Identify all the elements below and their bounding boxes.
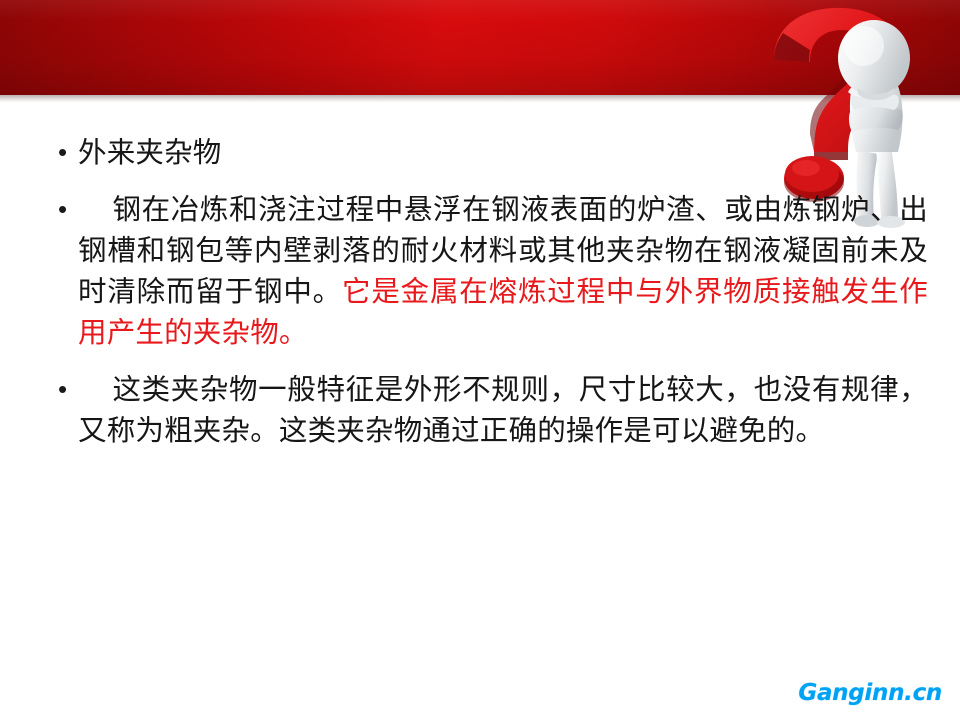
bullet-marker: • [48, 189, 78, 230]
bullet-run-3-1: 这类夹杂物一般特征是外形不规则，尺寸比较大，也没有规律，又称为粗夹杂。这类夹杂物… [78, 373, 928, 447]
bullet-marker: • [48, 369, 78, 410]
bullet-text-2: 钢在冶炼和浇注过程中悬浮在钢液表面的炉渣、或由炼钢炉、出钢槽和钢包等内壁剥落的耐… [78, 189, 928, 353]
site-watermark: Ganginn.cn [798, 680, 942, 706]
bullet-text-3: 这类夹杂物一般特征是外形不规则，尺寸比较大，也没有规律，又称为粗夹杂。这类夹杂物… [78, 369, 928, 451]
slide-body: • 外来夹杂物 • 钢在冶炼和浇注过程中悬浮在钢液表面的炉渣、或由炼钢炉、出钢槽… [48, 132, 928, 455]
bullet-item-1: • 外来夹杂物 [48, 132, 928, 173]
slide: • 外来夹杂物 • 钢在冶炼和浇注过程中悬浮在钢液表面的炉渣、或由炼钢炉、出钢槽… [0, 0, 960, 720]
bullet-item-3: • 这类夹杂物一般特征是外形不规则，尺寸比较大，也没有规律，又称为粗夹杂。这类夹… [48, 369, 928, 451]
bullet-text-1: 外来夹杂物 [78, 132, 928, 173]
bullet-item-2: • 钢在冶炼和浇注过程中悬浮在钢液表面的炉渣、或由炼钢炉、出钢槽和钢包等内壁剥落… [48, 189, 928, 353]
bullet-run-1-1: 外来夹杂物 [78, 136, 222, 169]
bullet-marker: • [48, 132, 78, 173]
